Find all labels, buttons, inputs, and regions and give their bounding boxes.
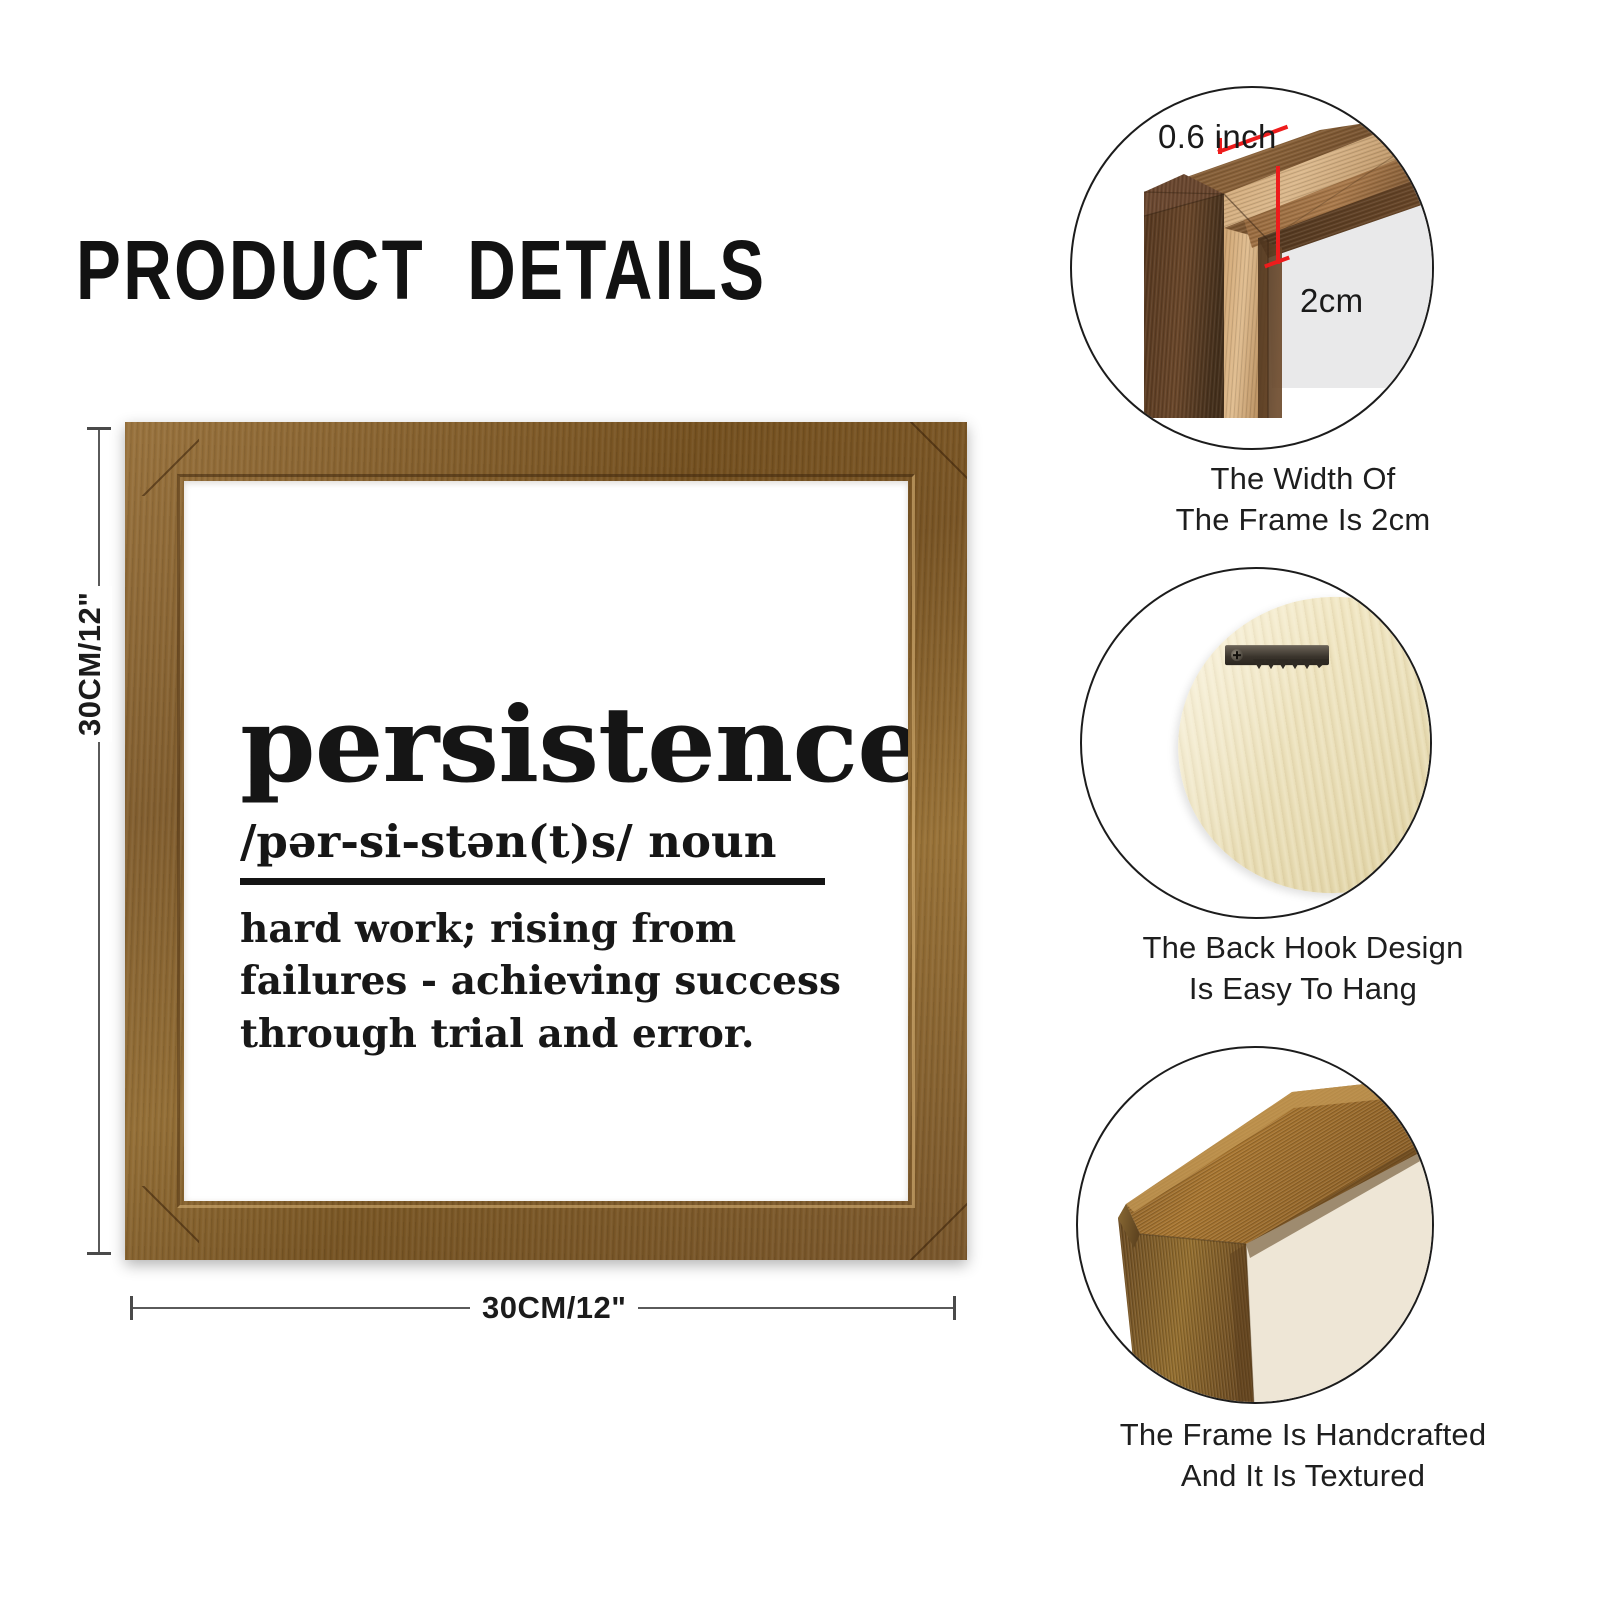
- height-dimension-label: 30CM/12": [68, 586, 112, 742]
- detail-caption-texture: The Frame Is Handcrafted And It Is Textu…: [1062, 1414, 1544, 1496]
- framed-sign-product-image: persistence /pər-si-stən(t)s/ noun hard …: [125, 422, 967, 1260]
- hook-screw: [1231, 649, 1243, 661]
- sign-phonetic: /pər-si-stən(t)s/ noun: [240, 819, 866, 864]
- caption-line-1: The Frame Is Handcrafted: [1062, 1414, 1544, 1455]
- caption-line-1: The Width Of: [1062, 458, 1544, 499]
- height-dimension-line: [98, 427, 100, 1255]
- caption-line-2: Is Easy To Hang: [1062, 968, 1544, 1009]
- page-title: PRODUCT DETAILS: [76, 228, 766, 312]
- detail-bubble-frame-corner: 0.6 inch 2cm: [1070, 86, 1434, 450]
- detail-caption-back-hook: The Back Hook Design Is Easy To Hang: [1062, 927, 1544, 1009]
- sign-definition: hard work; rising from failures - achiev…: [240, 903, 850, 1060]
- measure-label-inch: 0.6 inch: [1158, 118, 1277, 156]
- detail-bubble-back-hook: [1080, 567, 1432, 919]
- measure-line-vertical: [1276, 166, 1280, 264]
- detail-caption-frame-width: The Width Of The Frame Is 2cm: [1062, 458, 1544, 540]
- caption-line-2: And It Is Textured: [1062, 1455, 1544, 1496]
- sign-board: persistence /pər-si-stən(t)s/ noun hard …: [184, 481, 908, 1201]
- sawtooth-hook-icon: [1225, 645, 1329, 671]
- caption-line-1: The Back Hook Design: [1062, 927, 1544, 968]
- detail-texture: The Frame Is Handcrafted And It Is Textu…: [1062, 1046, 1544, 1516]
- product-details-page: PRODUCT DETAILS persistence /pər-si-stən…: [0, 0, 1600, 1600]
- detail-frame-width: 0.6 inch 2cm The Width Of The Frame Is 2…: [1062, 86, 1544, 556]
- wood-grain-corner-icon: [1078, 1048, 1432, 1402]
- caption-line-2: The Frame Is 2cm: [1062, 499, 1544, 540]
- detail-bubble-texture: [1076, 1046, 1434, 1404]
- sign-text-block: persistence /pər-si-stən(t)s/ noun hard …: [240, 693, 866, 1060]
- measure-label-cm: 2cm: [1300, 282, 1364, 320]
- detail-back-hook: The Back Hook Design Is Easy To Hang: [1062, 567, 1544, 1037]
- sign-divider-rule: [240, 878, 825, 885]
- width-dimension-label: 30CM/12": [470, 1288, 638, 1328]
- back-panel: [1161, 579, 1432, 911]
- sign-word: persistence: [240, 693, 891, 797]
